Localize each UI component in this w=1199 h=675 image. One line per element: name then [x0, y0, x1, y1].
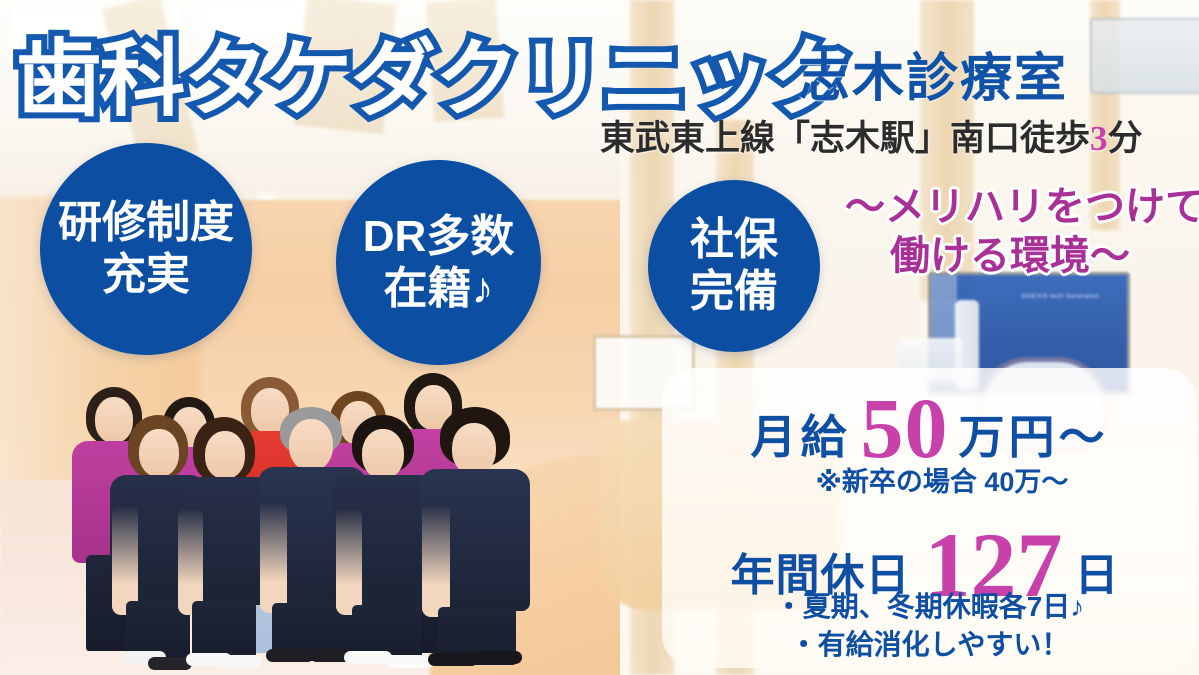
- recruitment-banner: SIDEXIS neXt Generation: [0, 0, 1199, 675]
- holiday-bullet-1: ・夏期、冬期休暇各7日♪: [662, 588, 1197, 626]
- wall-tv: [1090, 18, 1199, 94]
- shoe: [386, 655, 434, 668]
- tagline: 〜メリハリをつけて 働ける環境〜: [845, 183, 1175, 281]
- training-badge-line1: 研修制度: [58, 197, 234, 249]
- holiday-bullets: ・夏期、冬期休暇各7日♪ ・有給消化しやすい！: [662, 588, 1197, 664]
- salary-label: 月給: [751, 411, 851, 463]
- access-minutes: 3: [1090, 119, 1108, 158]
- branch-name: 志木診療室: [798, 36, 1068, 111]
- training-badge-line2: 充実: [102, 249, 190, 301]
- training-badge: 研修制度 充実: [40, 143, 252, 355]
- tagline-line2: 働ける環境〜: [845, 232, 1175, 281]
- staff-group-photo: [0, 355, 660, 675]
- tagline-line1: 〜メリハリをつけて: [845, 183, 1175, 232]
- shoe: [266, 649, 314, 662]
- holiday-bullet-2: ・有給消化しやすい！: [662, 626, 1197, 664]
- monitor-screen-text: SIDEXIS neXt Generation: [1021, 294, 1099, 300]
- insurance-badge-line1: 社保: [690, 214, 778, 266]
- shoe: [472, 651, 522, 664]
- access-info: 東武東上線「志木駅」南口徒歩3分: [600, 110, 1143, 161]
- insurance-badge-line2: 完備: [690, 266, 778, 318]
- doctors-badge-line2: 在籍♪: [384, 263, 494, 315]
- doctors-badge-line1: DR多数: [363, 211, 515, 263]
- shoe: [216, 655, 262, 668]
- shoe: [344, 651, 392, 664]
- shoe: [428, 653, 478, 666]
- insurance-badge: 社保 完備: [648, 180, 820, 352]
- access-suffix: 分: [1108, 119, 1143, 158]
- salary-note: ※新卒の場合 40万〜: [662, 460, 1199, 499]
- salary-unit: 万円〜: [959, 411, 1109, 463]
- access-prefix: 東武東上線「志木駅」南口徒歩: [600, 119, 1090, 158]
- doctors-badge: DR多数 在籍♪: [336, 160, 541, 365]
